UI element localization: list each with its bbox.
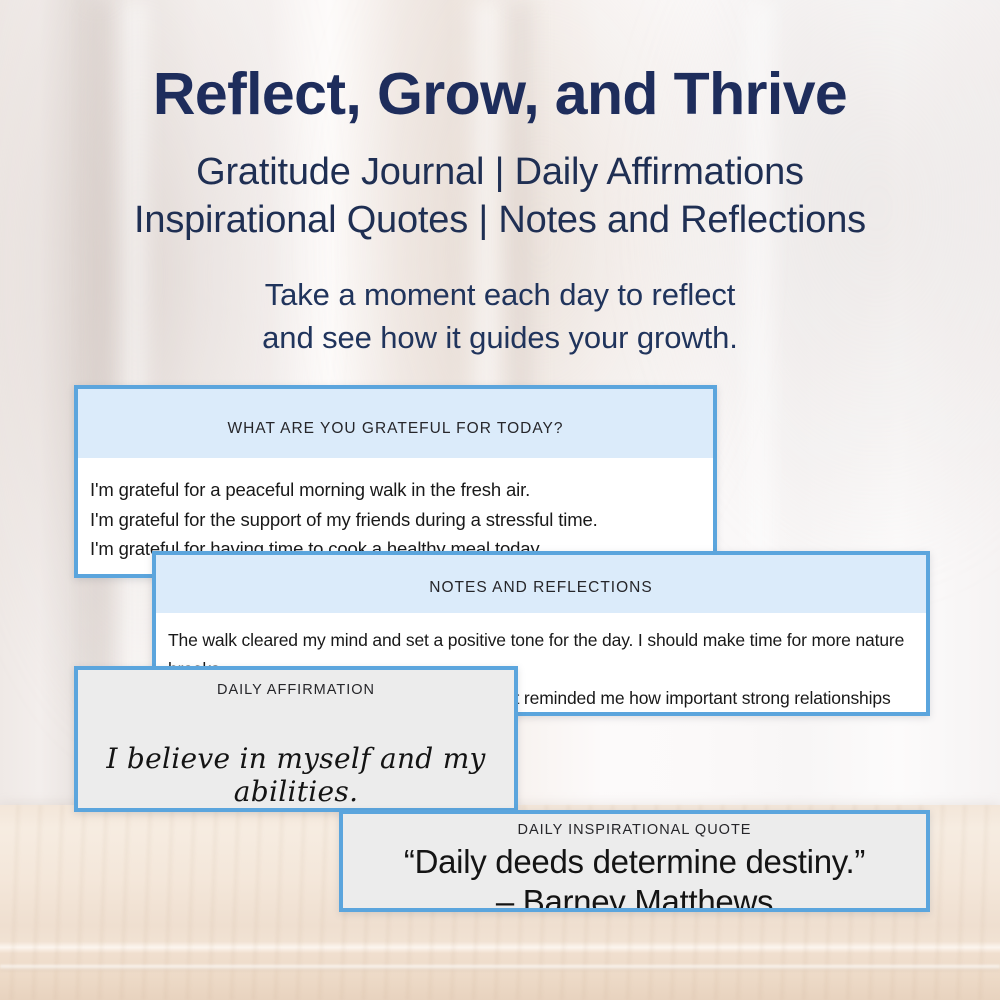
table-front-edge bbox=[0, 965, 1000, 971]
quote-text: “Daily deeds determine destiny.” – Barne… bbox=[343, 842, 926, 912]
gratitude-card-header: WHAT ARE YOU GRATEFUL FOR TODAY? bbox=[78, 389, 713, 458]
quote-text-line-1: “Daily deeds determine destiny.” bbox=[343, 842, 926, 882]
poster-canvas: Reflect, Grow, and Thrive Gratitude Jour… bbox=[0, 0, 1000, 1000]
page-tagline-line-1: Take a moment each day to reflect bbox=[0, 274, 1000, 316]
gratitude-entry: I'm grateful for the support of my frien… bbox=[90, 505, 701, 535]
header-block: Reflect, Grow, and Thrive Gratitude Jour… bbox=[0, 0, 1000, 359]
page-tagline-line-2: and see how it guides your growth. bbox=[0, 317, 1000, 359]
quote-card[interactable]: DAILY INSPIRATIONAL QUOTE “Daily deeds d… bbox=[339, 810, 930, 912]
page-subtitle-line-2: Inspirational Quotes | Notes and Reflect… bbox=[0, 196, 1000, 244]
gratitude-card[interactable]: WHAT ARE YOU GRATEFUL FOR TODAY? I'm gra… bbox=[74, 385, 717, 578]
affirmation-card[interactable]: DAILY AFFIRMATION I believe in myself an… bbox=[74, 666, 518, 812]
affirmation-text: I believe in myself and my abilities. bbox=[78, 742, 514, 808]
gratitude-card-body: I'm grateful for a peaceful morning walk… bbox=[78, 458, 713, 564]
page-subtitle-line-1: Gratitude Journal | Daily Affirmations bbox=[0, 148, 1000, 196]
quote-author: – Barney Matthews bbox=[343, 882, 926, 912]
notes-card-header: NOTES AND REFLECTIONS bbox=[156, 555, 926, 613]
page-title: Reflect, Grow, and Thrive bbox=[0, 64, 1000, 126]
page-tagline: Take a moment each day to reflect and se… bbox=[0, 274, 1000, 358]
gratitude-entry: I'm grateful for a peaceful morning walk… bbox=[90, 475, 701, 505]
affirmation-card-header: DAILY AFFIRMATION bbox=[78, 670, 514, 704]
page-subtitle: Gratitude Journal | Daily Affirmations I… bbox=[0, 148, 1000, 245]
quote-card-header: DAILY INSPIRATIONAL QUOTE bbox=[343, 814, 926, 840]
